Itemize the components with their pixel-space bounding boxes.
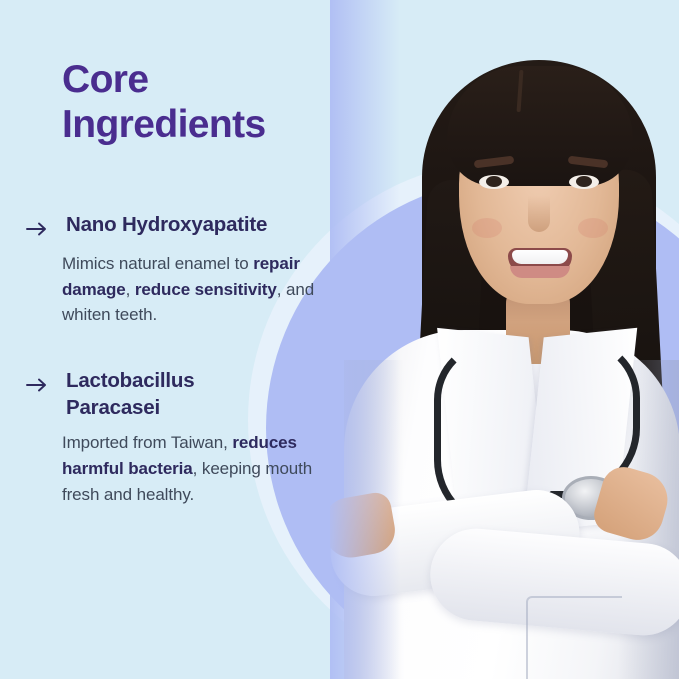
teeth [512,250,568,264]
eye-right [576,176,592,187]
eye-left [486,176,502,187]
ingredient-item-2: Lactobacillus Paracasei Imported from Ta… [62,368,360,508]
cheek-right [578,218,608,238]
lower-lip [510,266,570,278]
nose [528,196,550,232]
ingredient-heading-1: Nano Hydroxyapatite [24,212,360,242]
text-column: Core Ingredients Nano Hydroxyapatite Mim… [0,0,360,679]
ingredient-name-1: Nano Hydroxyapatite [66,212,267,239]
coat-pocket [526,596,622,679]
ingredient-description-2: Imported from Taiwan, reduces harmful ba… [62,430,320,507]
ingredient-item-1: Nano Hydroxyapatite Mimics natural ename… [62,212,360,328]
product-info-card: Core Ingredients Nano Hydroxyapatite Mim… [0,0,679,679]
doctor-photo [330,0,679,679]
hair-fringe [447,66,633,186]
arrow-right-icon [24,372,50,398]
ingredient-description-1: Mimics natural enamel to repair damage, … [62,251,320,328]
arrow-right-icon [24,216,50,242]
cheek-left [472,218,502,238]
ingredient-heading-2: Lactobacillus Paracasei [24,368,360,421]
page-title: Core Ingredients [62,58,360,148]
ingredient-name-2: Lactobacillus Paracasei [66,368,290,421]
